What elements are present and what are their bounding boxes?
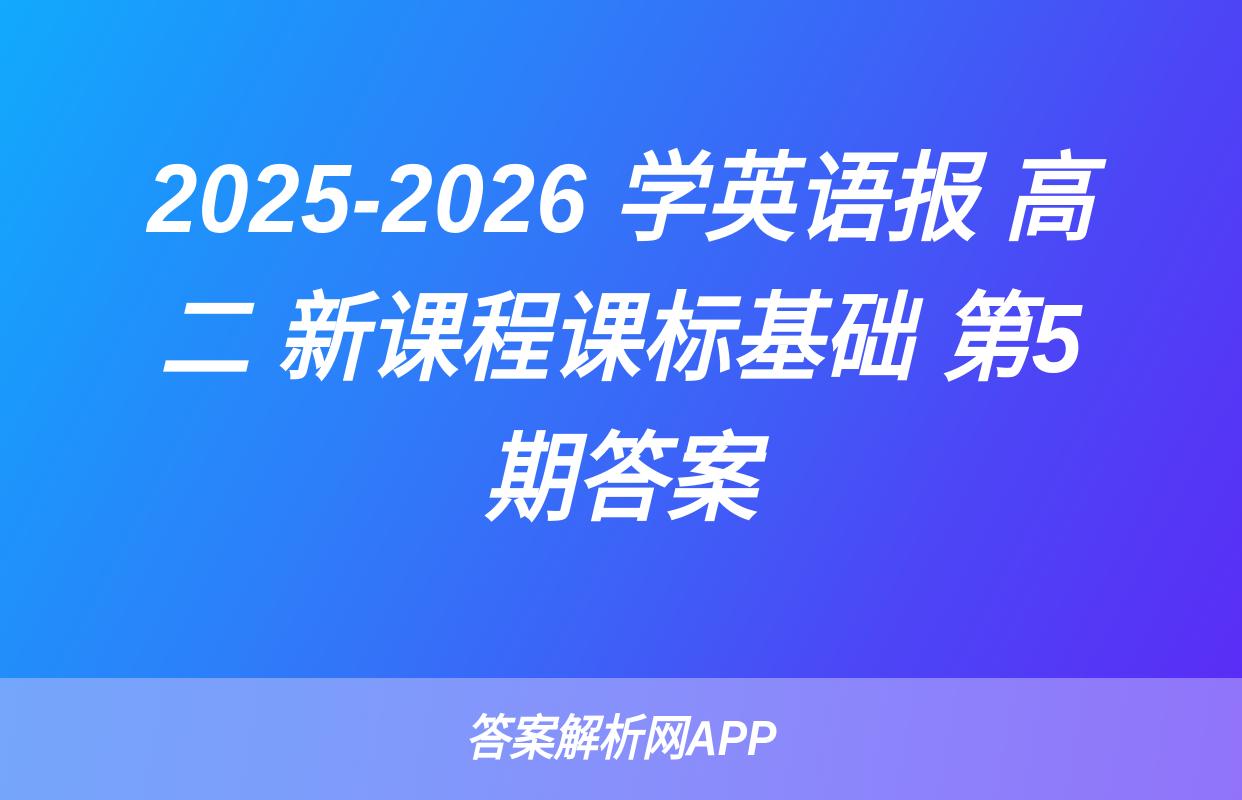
page-title: 2025-2026 学英语报 高 二 新课程课标基础 第5 期答案 <box>61 129 1181 549</box>
title-line-1: 2025-2026 学英语报 高 <box>100 129 1142 269</box>
hero-gradient-panel: 2025-2026 学英语报 高 二 新课程课标基础 第5 期答案 <box>0 0 1242 678</box>
footer-watermark-band: 答案解析网APP <box>0 678 1242 800</box>
title-line-2: 二 新课程课标基础 第5 <box>100 269 1142 409</box>
title-line-3: 期答案 <box>100 409 1142 549</box>
cover-card: 2025-2026 学英语报 高 二 新课程课标基础 第5 期答案 答案解析网A… <box>0 0 1242 800</box>
app-brand-watermark: 答案解析网APP <box>465 715 776 764</box>
